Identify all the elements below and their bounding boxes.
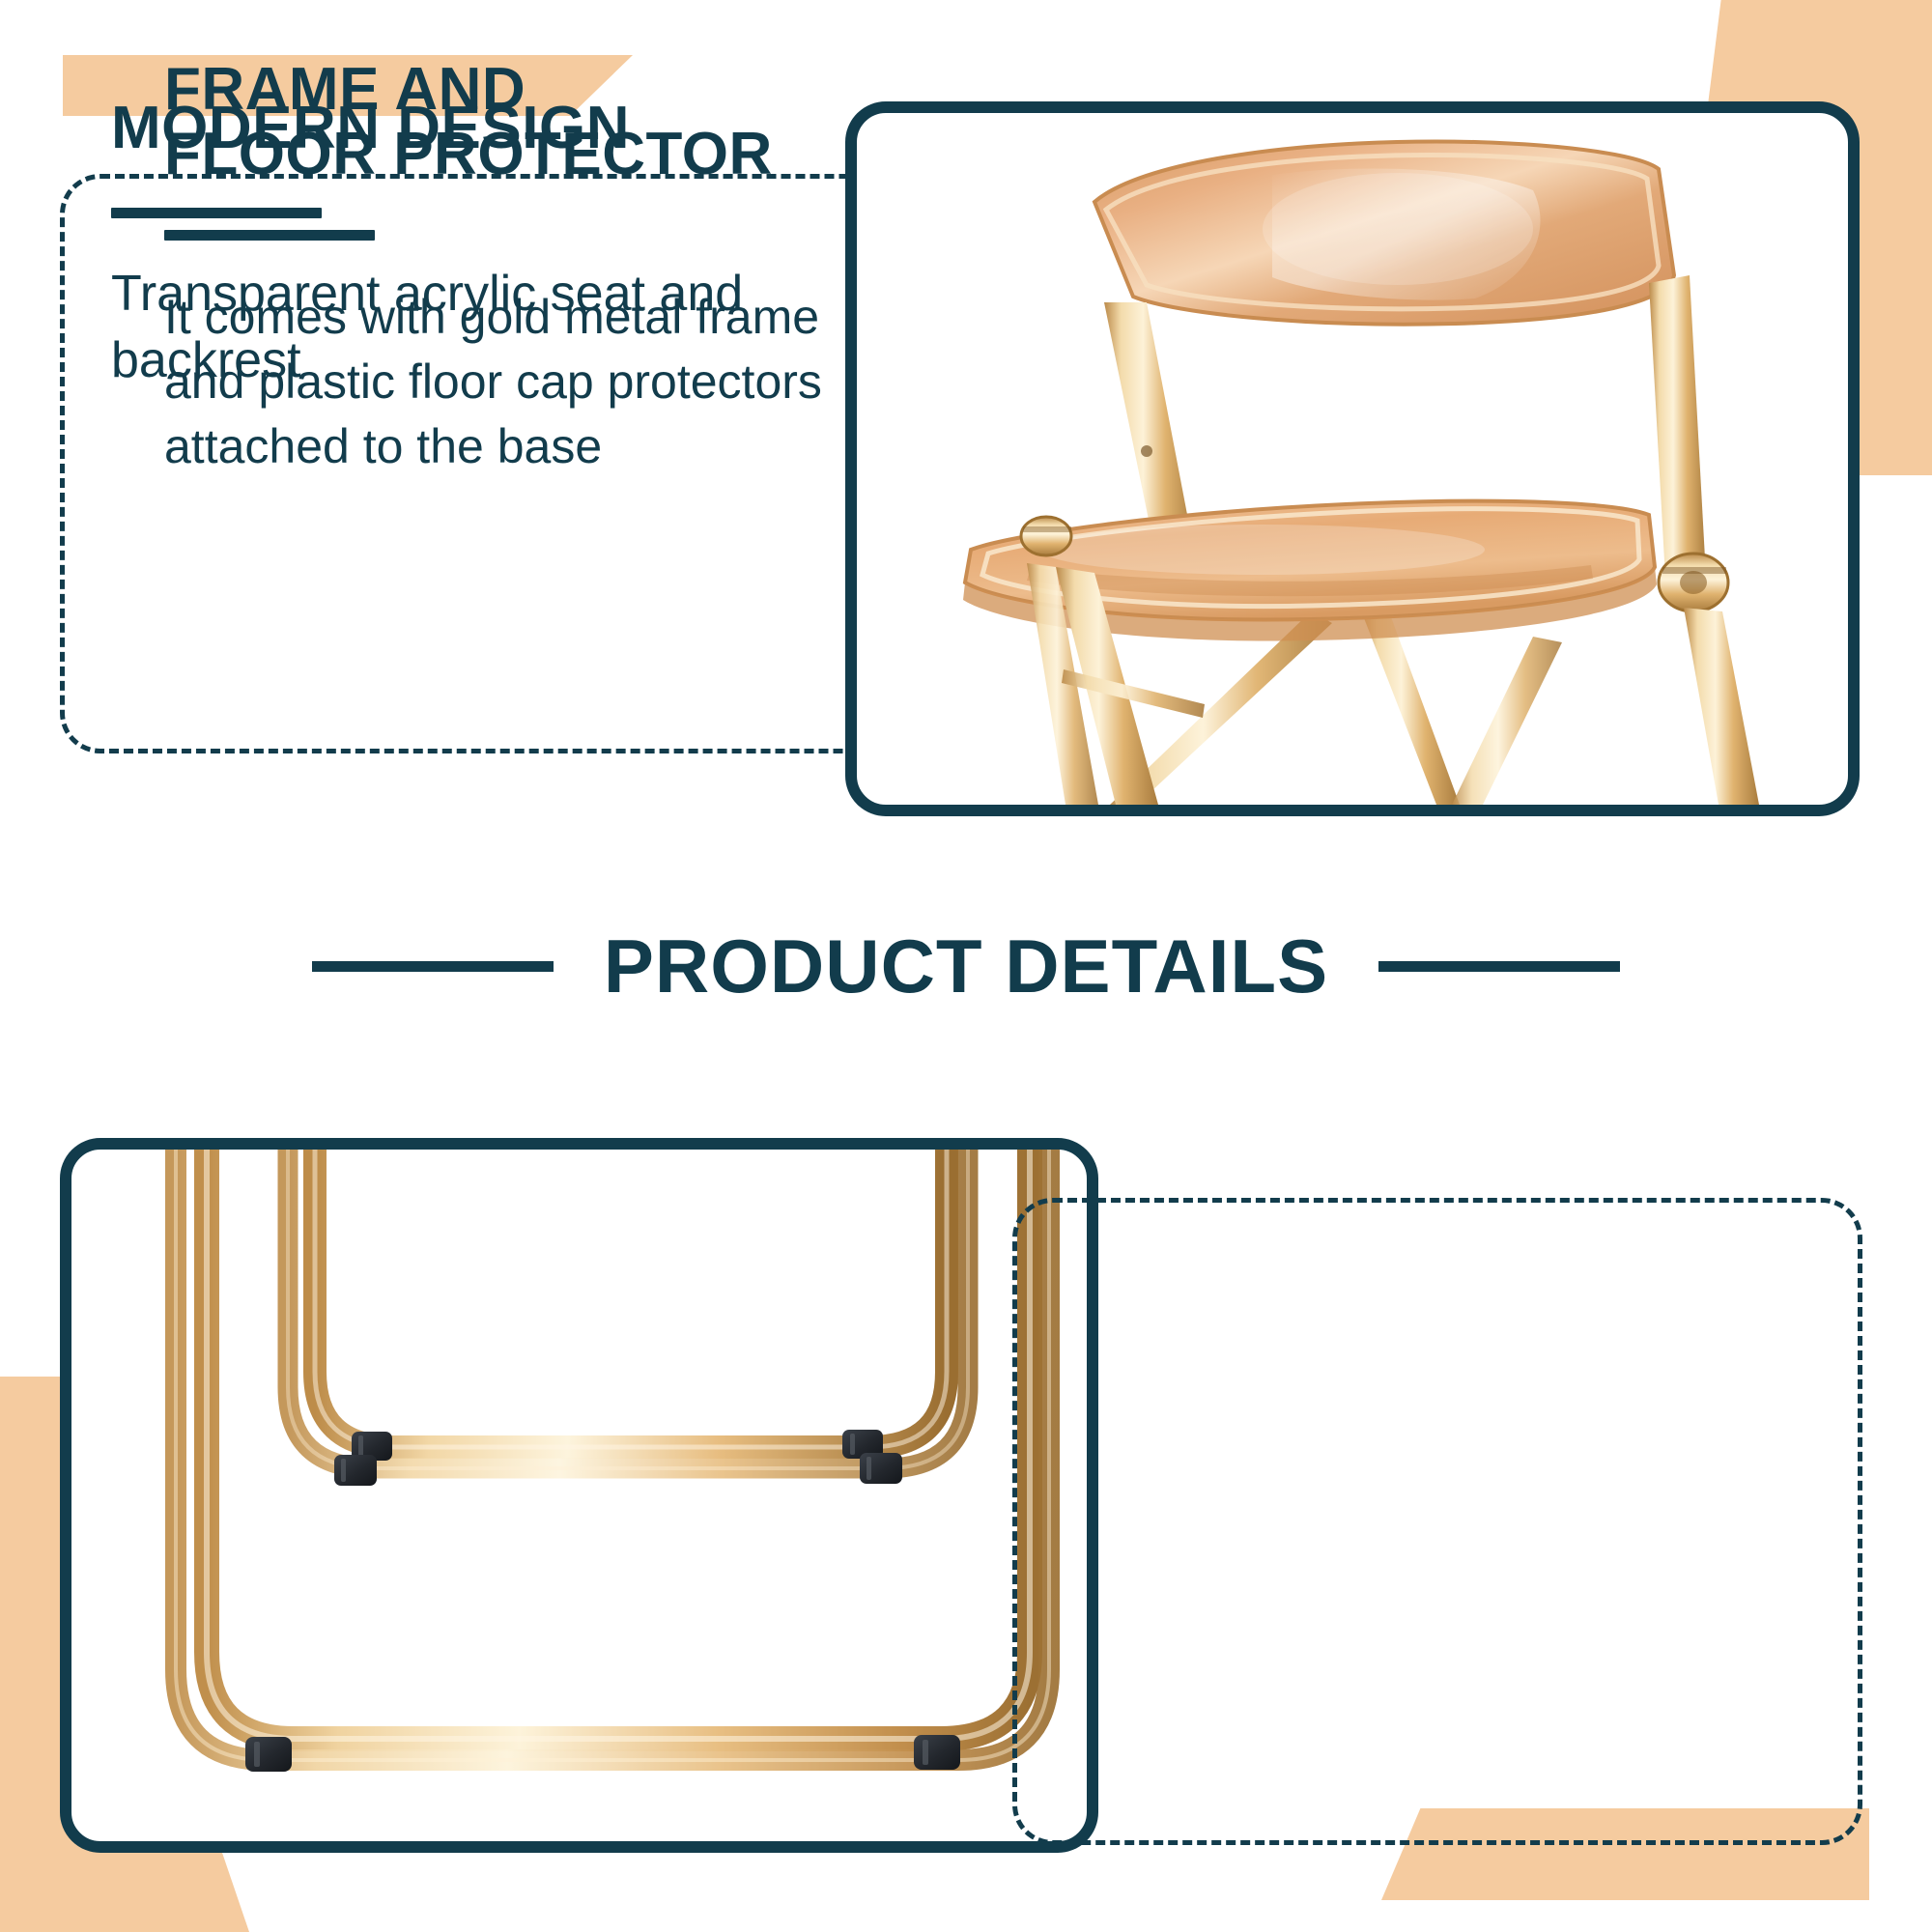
card-frame-and-floor-protector <box>1012 1198 1862 1845</box>
panel-chair-photo <box>845 101 1860 816</box>
frame-protector-heading-line1: FRAME AND <box>164 58 831 123</box>
chair-illustration <box>857 113 1848 805</box>
frame-protector-body: It comes with gold metal frame and plast… <box>164 285 831 479</box>
card-frame-and-floor-protector-content: FRAME AND FLOOR PROTECTOR It comes with … <box>164 58 831 479</box>
section-title-rule-left <box>312 961 554 972</box>
section-title-rule-right <box>1378 961 1620 972</box>
hinge-detail <box>1659 554 1728 611</box>
frame-illustration <box>71 1150 1087 1841</box>
infographic-canvas: MODERN DESIGN Transparent acrylic seat a… <box>0 0 1932 1932</box>
frame-protector-divider <box>164 230 375 241</box>
panel-frame-photo <box>60 1138 1098 1853</box>
section-title-row: PRODUCT DETAILS <box>0 903 1932 1029</box>
frame-protector-heading-line2: FLOOR PROTECTOR <box>164 123 831 187</box>
section-title-text: PRODUCT DETAILS <box>604 923 1328 1010</box>
